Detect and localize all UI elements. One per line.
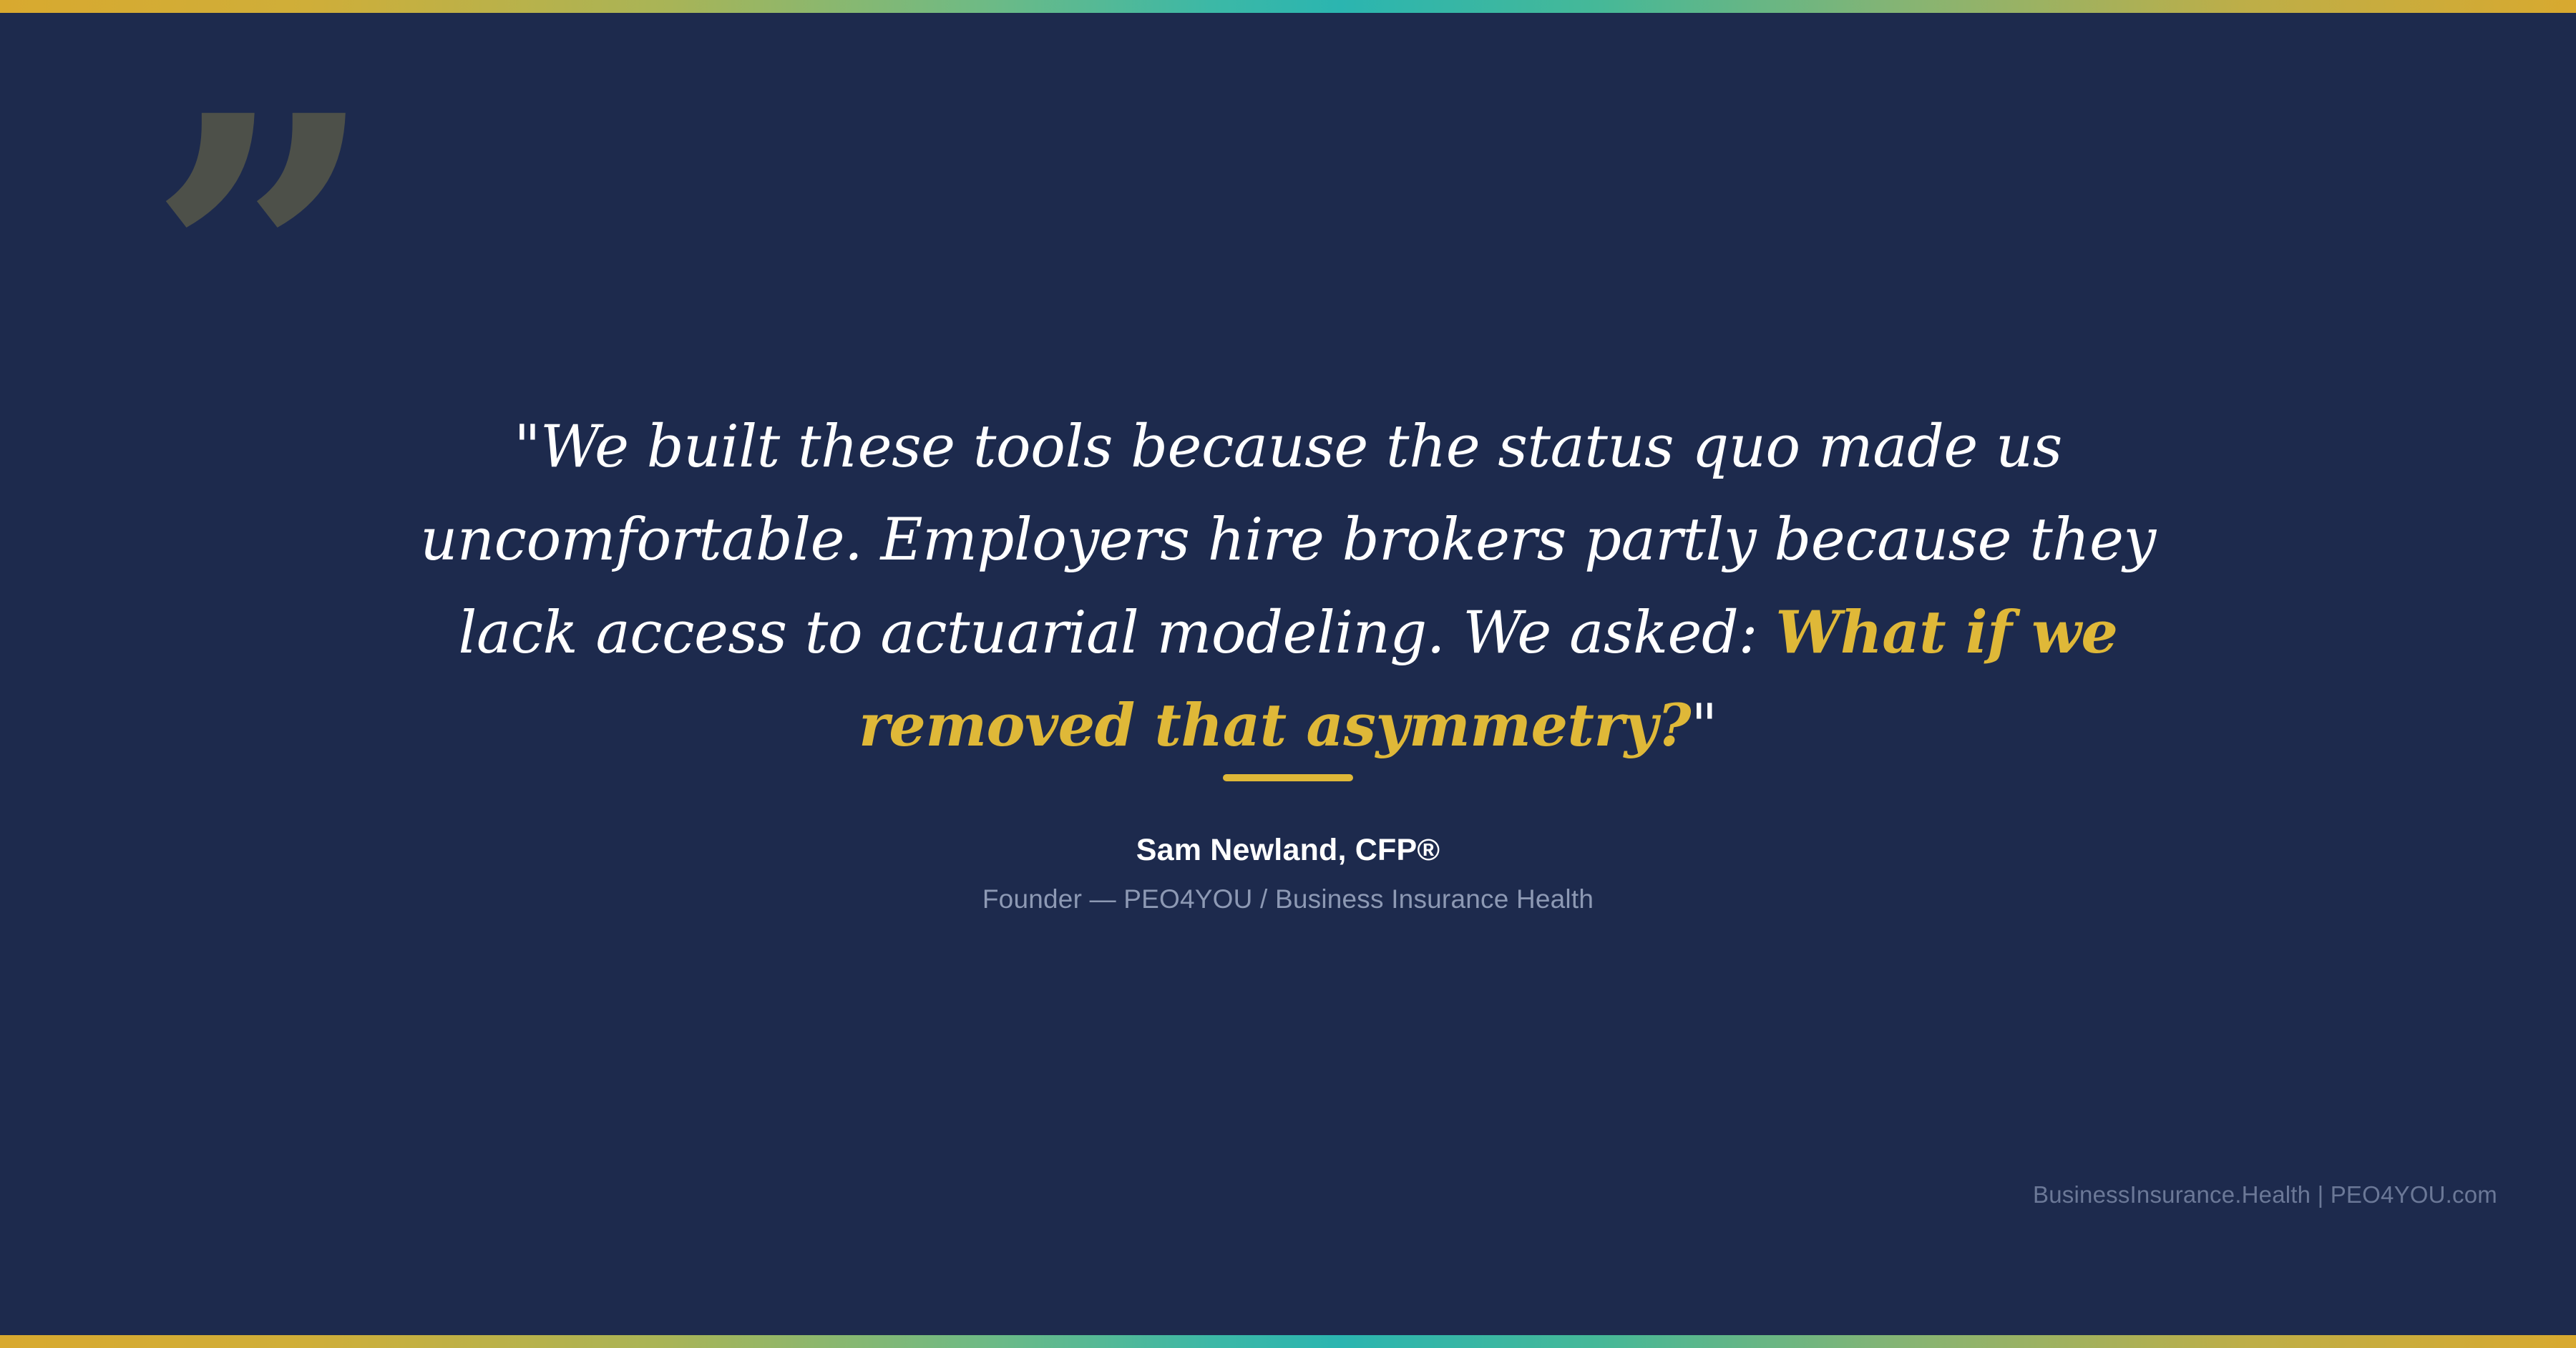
quote-text: "We built these tools because the status… xyxy=(394,401,2182,773)
quote-line-3-lead: modeling. We asked: xyxy=(1157,600,1776,667)
quote-closing-mark: " xyxy=(1691,693,1717,760)
divider-rule xyxy=(1223,774,1353,781)
quote-slide: ” "We built these tools because the stat… xyxy=(0,0,2576,1348)
bottom-accent-bar xyxy=(0,1335,2576,1348)
footer-branding: BusinessInsurance.Health | PEO4YOU.com xyxy=(2033,1181,2497,1208)
attribution-name: Sam Newland, CFP® xyxy=(0,830,2576,870)
quote-mark-icon: ” xyxy=(147,64,374,351)
top-accent-bar xyxy=(0,0,2576,13)
quote-block: "We built these tools because the status… xyxy=(0,401,2576,773)
attribution-role: Founder — PEO4YOU / Business Insurance H… xyxy=(0,881,2576,918)
attribution-block: Sam Newland, CFP® Founder — PEO4YOU / Bu… xyxy=(0,830,2576,918)
